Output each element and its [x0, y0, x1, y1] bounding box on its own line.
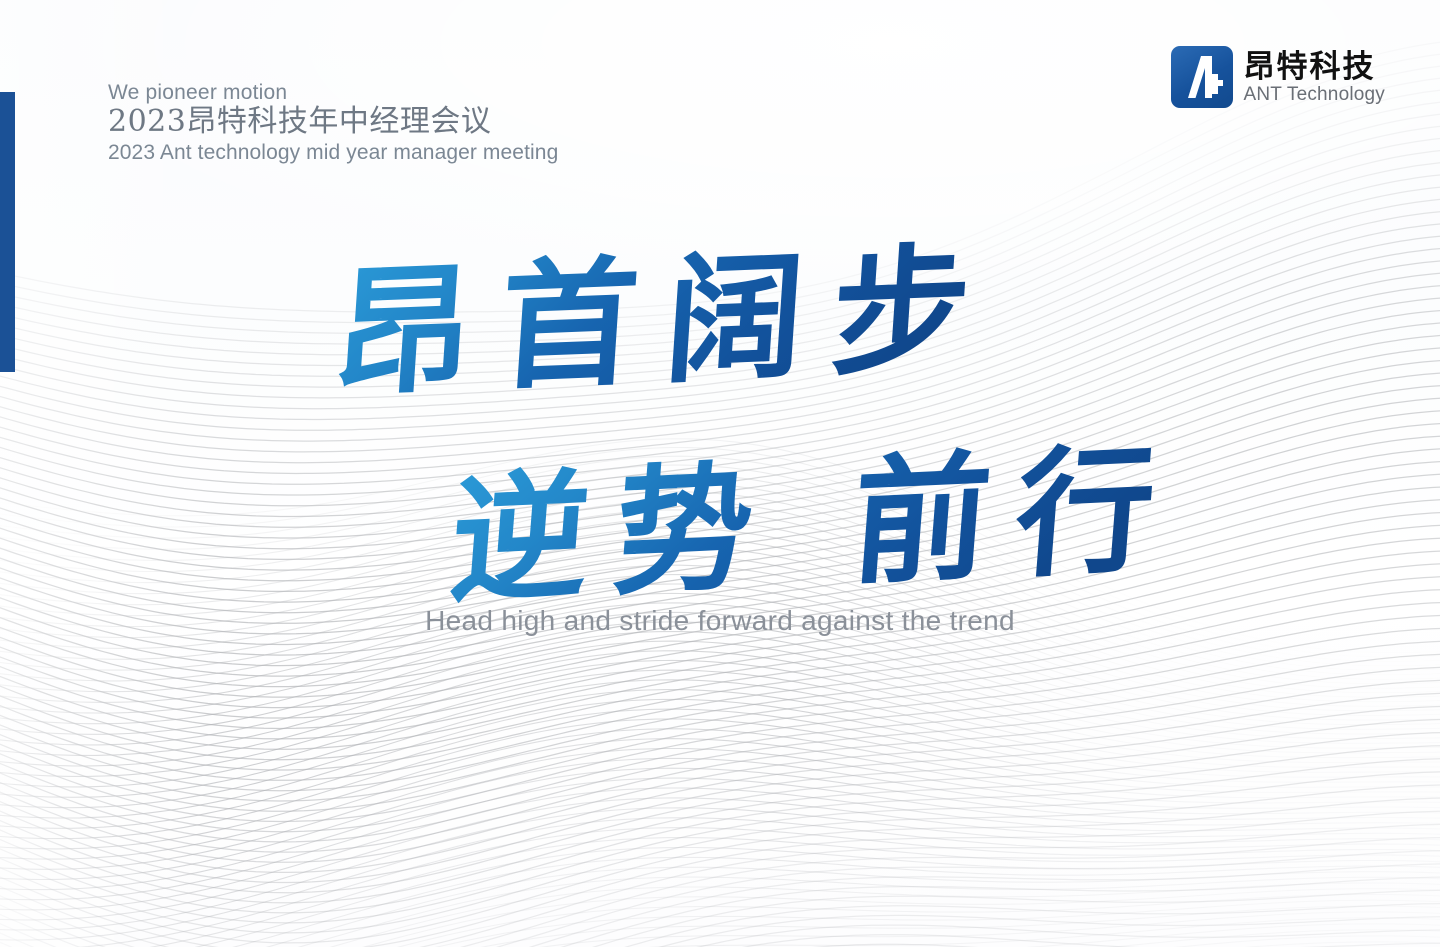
logo-name-cn: 昂特科技	[1243, 51, 1385, 82]
header-title-cn: 2023昂特科技年中经理会议	[108, 107, 558, 137]
hero-subtitle: Head high and stride forward against the…	[0, 605, 1440, 637]
logo-wordmark: 昂特科技 ANT Technology	[1243, 51, 1385, 104]
header-title-en: 2023 Ant technology mid year manager mee…	[108, 142, 558, 163]
slide-header: We pioneer motion 2023昂特科技年中经理会议 2023 An…	[108, 82, 558, 163]
presentation-slide: We pioneer motion 2023昂特科技年中经理会议 2023 An…	[0, 0, 1440, 947]
logo-name-en: ANT Technology	[1243, 85, 1385, 104]
hero-line-2: 逆势 前行	[445, 426, 1187, 622]
hero-line-1: 昂首阔步	[329, 227, 1003, 416]
header-kicker: We pioneer motion	[108, 82, 558, 103]
company-logo: 昂特科技 ANT Technology	[1171, 46, 1385, 108]
left-accent-bar	[0, 92, 15, 372]
ant-a-plus-logo-icon	[1171, 46, 1233, 108]
